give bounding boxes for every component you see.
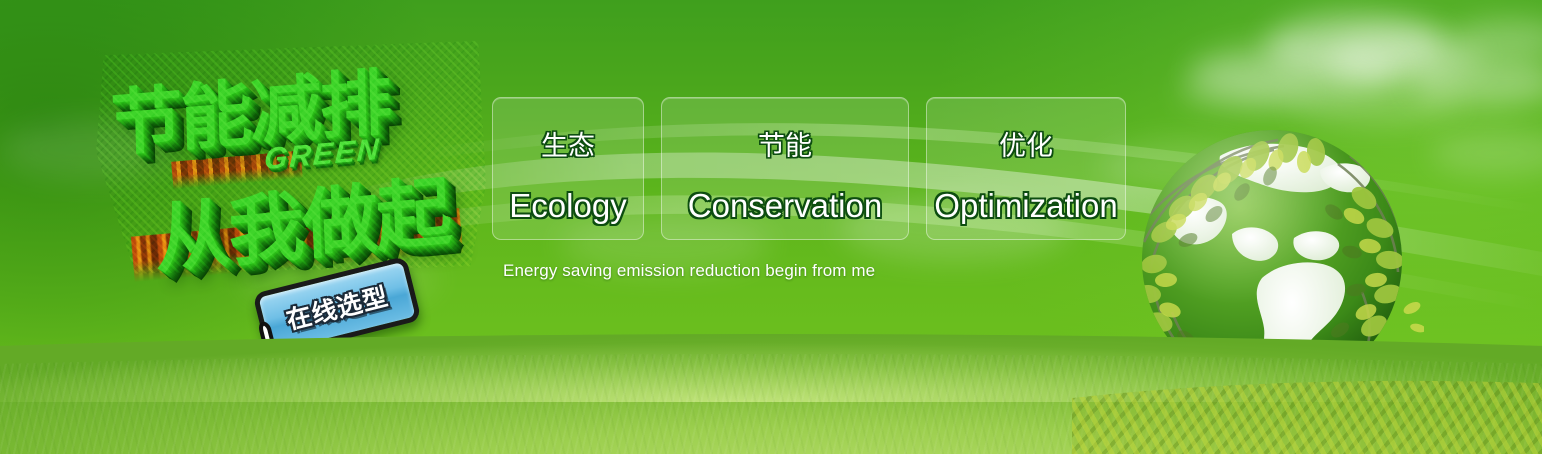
feature-card-en-label: Ecology [509,187,626,225]
feature-card-cn-label: 优化 [999,124,1053,163]
feature-card-ecology[interactable]: 生态 Ecology [492,97,644,240]
feature-card-cn-label: 生态 [541,124,595,163]
feature-card-en-label: Conservation [688,187,882,225]
feature-card-cn-label: 节能 [758,124,812,163]
hero-title-art: 节能减排 从我做起 GREEN [96,36,486,276]
feature-card-en-label: Optimization [934,187,1117,225]
feature-card-optimization[interactable]: 优化 Optimization [926,97,1126,240]
eco-banner: 节能减排 从我做起 GREEN 在线选型 生态 Ecology 节能 Conse… [0,0,1542,454]
banner-tagline: Energy saving emission reduction begin f… [503,261,875,281]
feature-cards: 生态 Ecology 节能 Conservation 优化 Optimizati… [492,97,1126,240]
feature-card-conservation[interactable]: 节能 Conservation [661,97,909,240]
